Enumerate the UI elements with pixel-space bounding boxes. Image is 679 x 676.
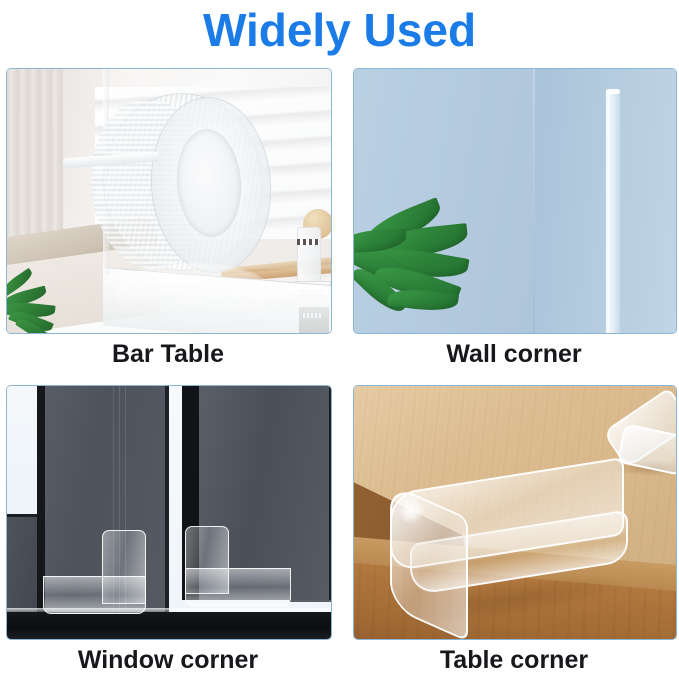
corner-guard-gleam <box>398 498 424 524</box>
tape-reflection <box>113 263 273 323</box>
scene-window-corner <box>7 386 331 639</box>
corner-guard-highlight <box>606 90 609 333</box>
clear-tape-roll <box>91 93 275 283</box>
corner-guard-top-cap <box>606 89 620 94</box>
floor-strip <box>7 612 332 639</box>
potted-plant <box>354 206 502 333</box>
panel-window-corner <box>6 385 332 640</box>
caption-bar-table: Bar Table <box>6 340 330 369</box>
scene-bar-table <box>7 69 331 333</box>
scene-wall-corner <box>354 69 676 333</box>
caption-wall-corner: Wall corner <box>353 340 675 369</box>
page-title: Widely Used <box>0 4 679 56</box>
corner-guard-strip <box>608 90 620 333</box>
panel-bar-table <box>6 68 332 334</box>
corner-guard-horizontal-arm <box>185 568 291 606</box>
corner-guard-horizontal-arm <box>43 576 146 614</box>
wall-corner-seam <box>533 69 535 333</box>
panel-table-corner <box>353 385 677 640</box>
panel-wall-corner <box>353 68 677 334</box>
scene-table-corner <box>354 386 676 639</box>
caption-table-corner: Table corner <box>353 646 675 675</box>
product-infographic: Widely Used <box>0 0 679 676</box>
caption-window-corner: Window corner <box>6 646 330 675</box>
